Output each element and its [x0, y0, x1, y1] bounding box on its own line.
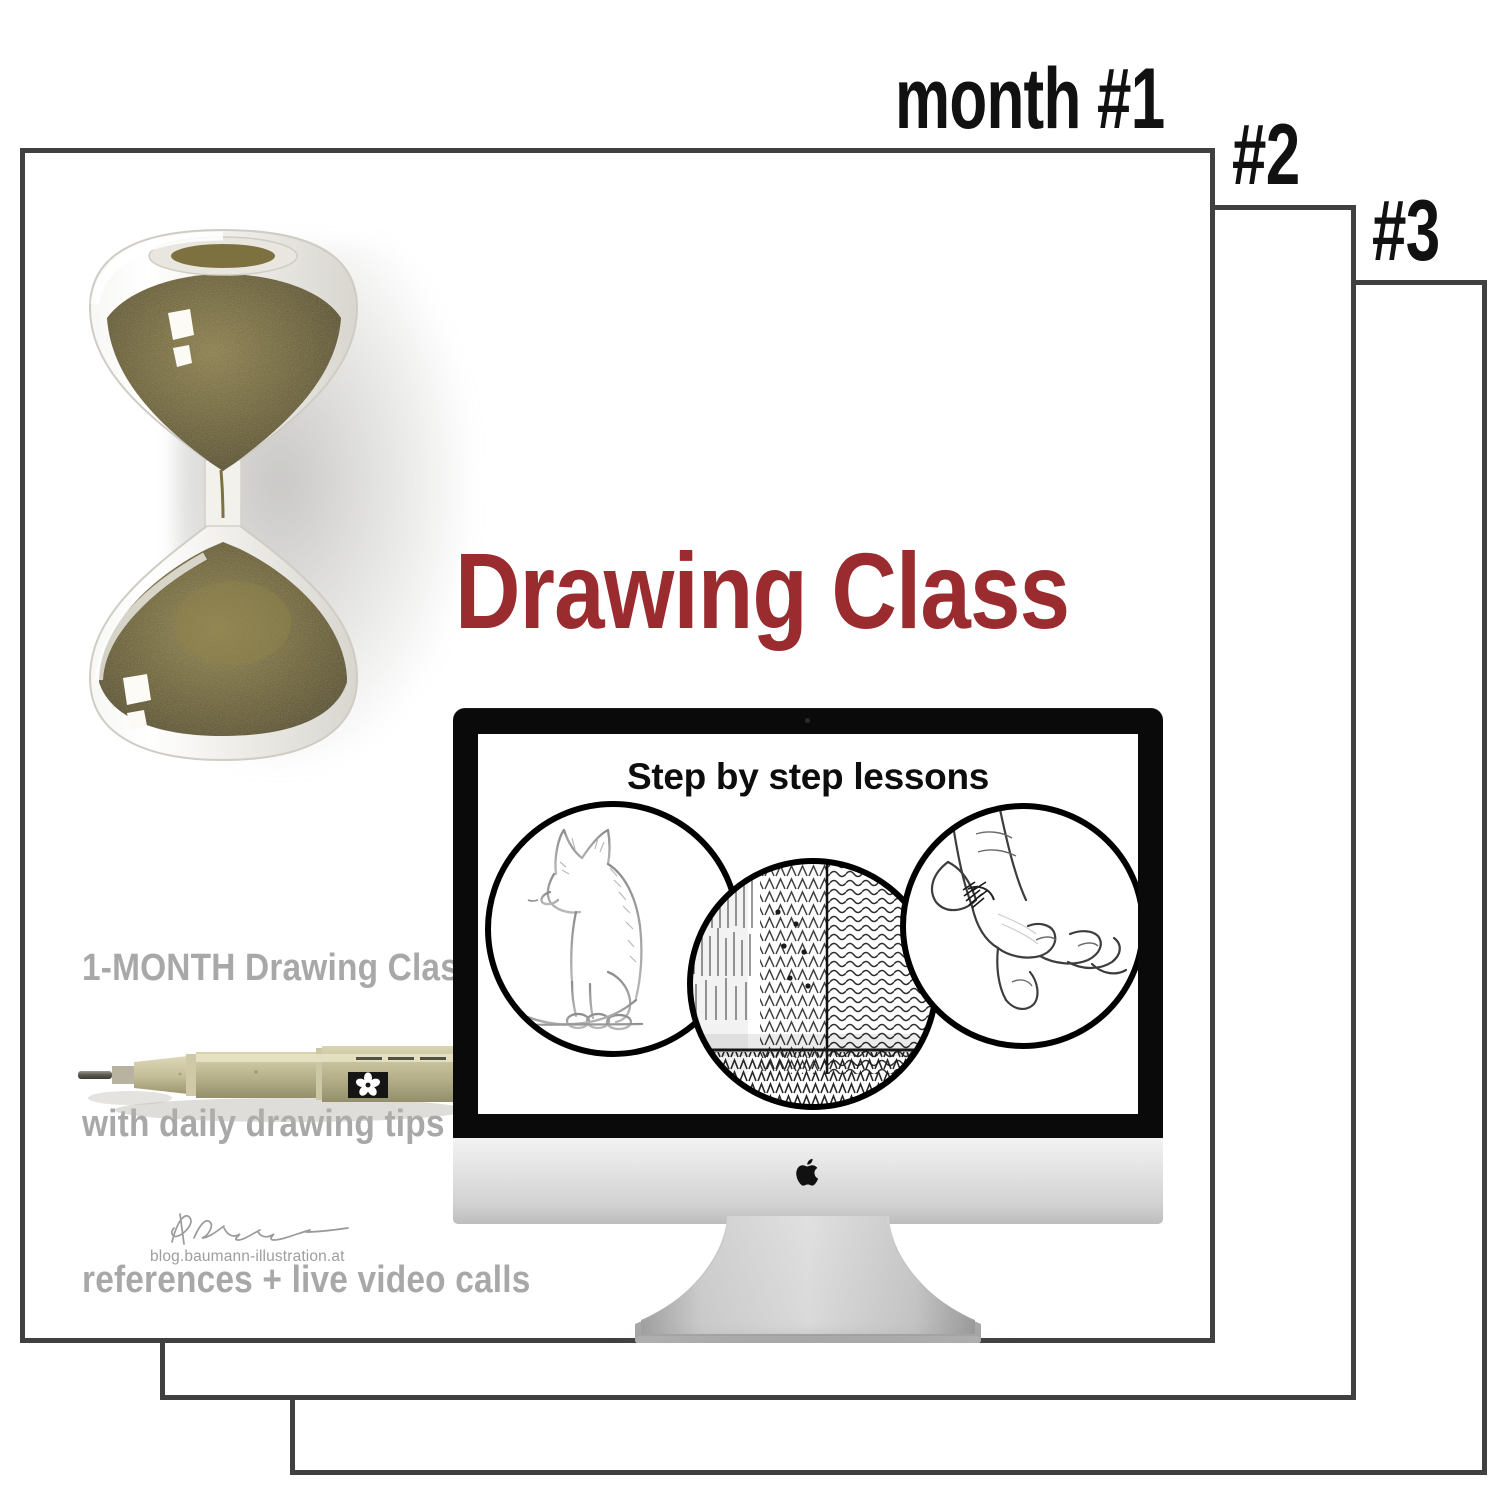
watermark-url: blog.baumann-illustration.at	[150, 1248, 345, 1266]
lesson-thumbnails	[478, 734, 1138, 1114]
imac-chin	[453, 1138, 1163, 1224]
month-2-label: #2	[1232, 112, 1299, 198]
imac-bezel: Step by step lessons	[453, 708, 1163, 1140]
hourglass-icon	[55, 208, 435, 798]
imac-shadow	[603, 1328, 1023, 1343]
pen-icon	[60, 1028, 480, 1138]
month-1-label: month #1	[895, 56, 1164, 142]
webcam-icon	[805, 718, 810, 723]
month-3-label: #3	[1372, 188, 1439, 274]
fineliner-pen-photo	[60, 1028, 480, 1138]
watermark: blog.baumann-illustration.at	[150, 1208, 380, 1274]
poster-canvas: month #1 #2 #3	[0, 0, 1500, 1500]
imac-stand	[629, 1216, 987, 1343]
imac-screen: Step by step lessons	[478, 734, 1138, 1114]
imac-illustration: Step by step lessons	[453, 708, 1183, 1303]
month-1-card-content: Drawing Class & Live Call Replays 1-MONT…	[20, 148, 1215, 1343]
title-line-1: Drawing Class	[455, 520, 1187, 662]
handwritten-signature	[150, 1208, 380, 1252]
hourglass-photo	[55, 208, 435, 798]
apple-logo-icon	[793, 1154, 823, 1190]
